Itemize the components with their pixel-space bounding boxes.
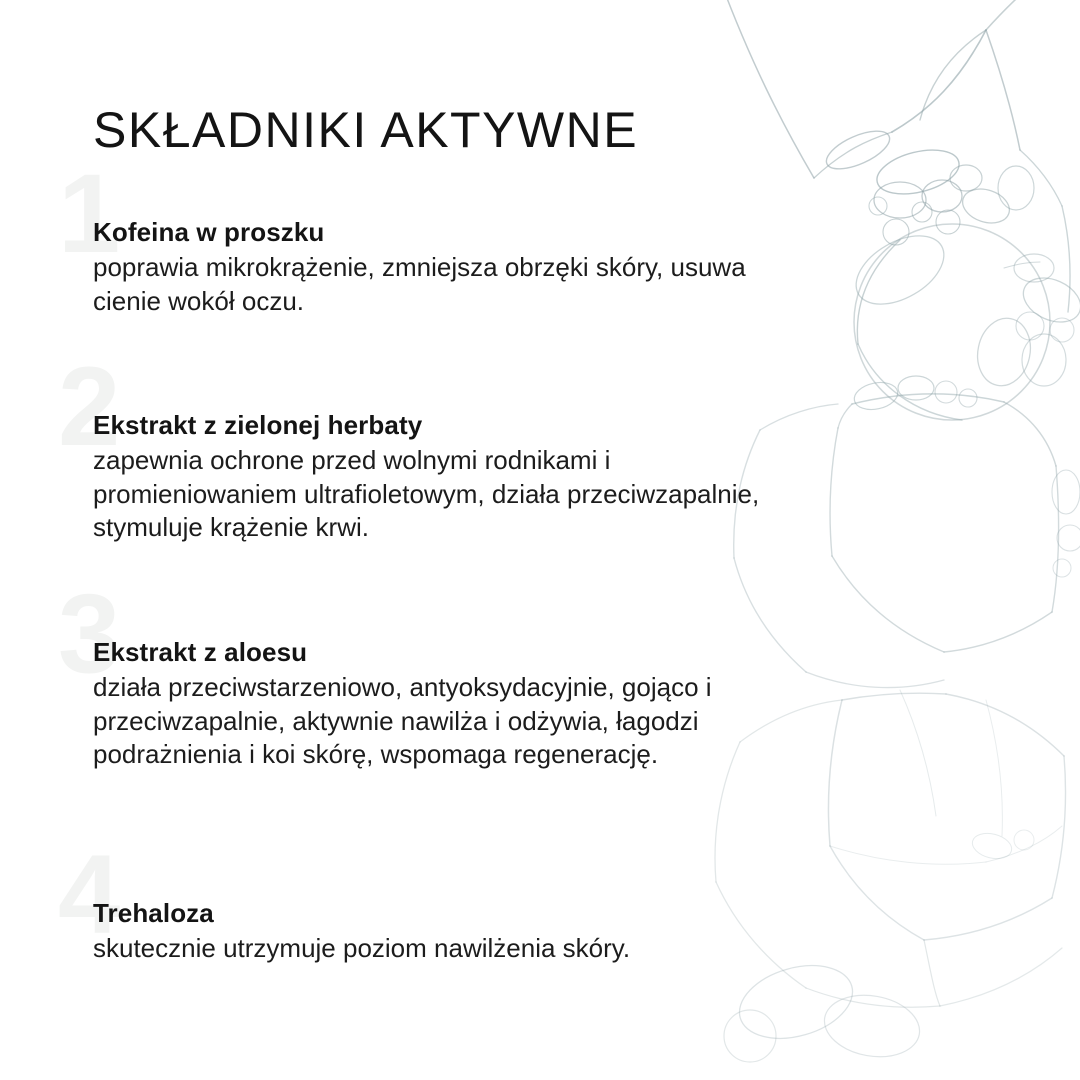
list-item: 4 Trehaloza skutecznie utrzymuje poziom … xyxy=(93,897,803,966)
page-title: SKŁADNIKI AKTYWNE xyxy=(93,104,638,157)
ingredient-description: poprawia mikrokrążenie, zmniejsza obrzęk… xyxy=(93,251,793,319)
ingredient-name: Ekstrakt z aloesu xyxy=(93,636,803,669)
list-item: 3 Ekstrakt z aloesu działa przeciwstarze… xyxy=(93,636,803,772)
ingredient-description: skutecznie utrzymuje poziom nawilżenia s… xyxy=(93,932,793,966)
ingredient-description: zapewnia ochrone przed wolnymi rodnikami… xyxy=(93,444,793,545)
ingredient-description: działa przeciwstarzeniowo, antyoksydacyj… xyxy=(93,671,793,772)
ingredient-list: 1 Kofeina w proszku poprawia mikrokrążen… xyxy=(0,0,820,1080)
list-item: 2 Ekstrakt z zielonej herbaty zapewnia o… xyxy=(93,409,803,545)
ingredient-name: Trehaloza xyxy=(93,897,803,930)
ingredient-name: Ekstrakt z zielonej herbaty xyxy=(93,409,803,442)
ingredient-name: Kofeina w proszku xyxy=(93,216,803,249)
list-item: 1 Kofeina w proszku poprawia mikrokrążen… xyxy=(93,216,803,318)
ingredients-poster: SKŁADNIKI AKTYWNE 1 Kofeina w proszku po… xyxy=(0,0,1080,1080)
